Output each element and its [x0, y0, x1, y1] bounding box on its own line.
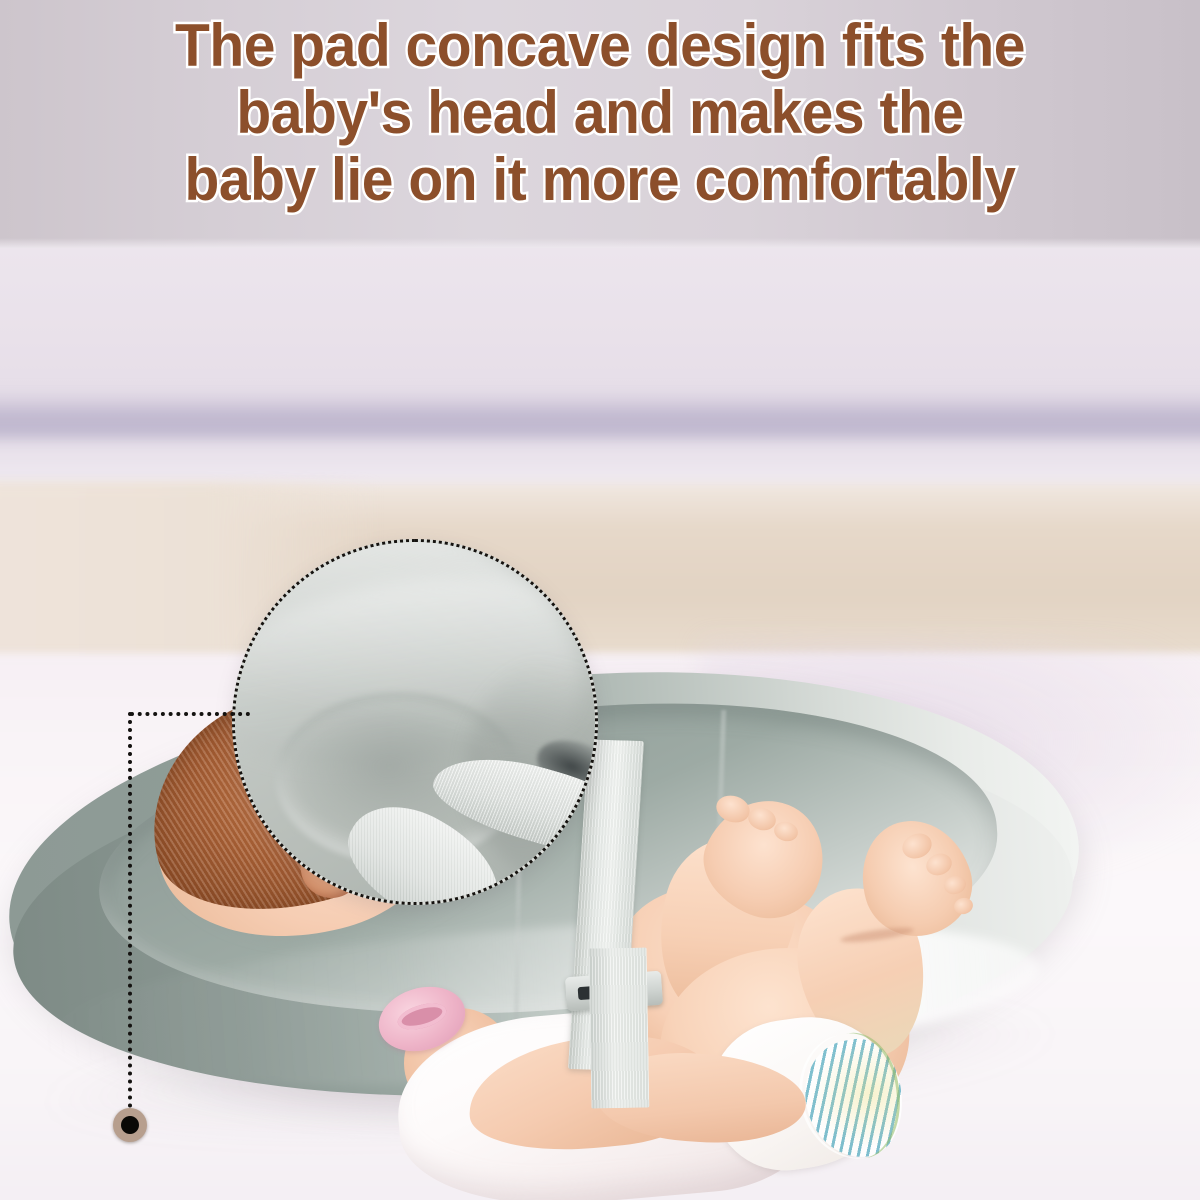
- callout-content: [235, 542, 595, 902]
- product-photo-scene: [0, 248, 1200, 1200]
- infographic-page: The pad concave design fits the baby's h…: [0, 0, 1200, 1200]
- header-banner: The pad concave design fits the baby's h…: [0, 0, 1200, 248]
- safety-strap-lower: [589, 948, 650, 1109]
- page-title: The pad concave design fits the baby's h…: [30, 12, 1170, 213]
- callout-bubble: [232, 539, 598, 905]
